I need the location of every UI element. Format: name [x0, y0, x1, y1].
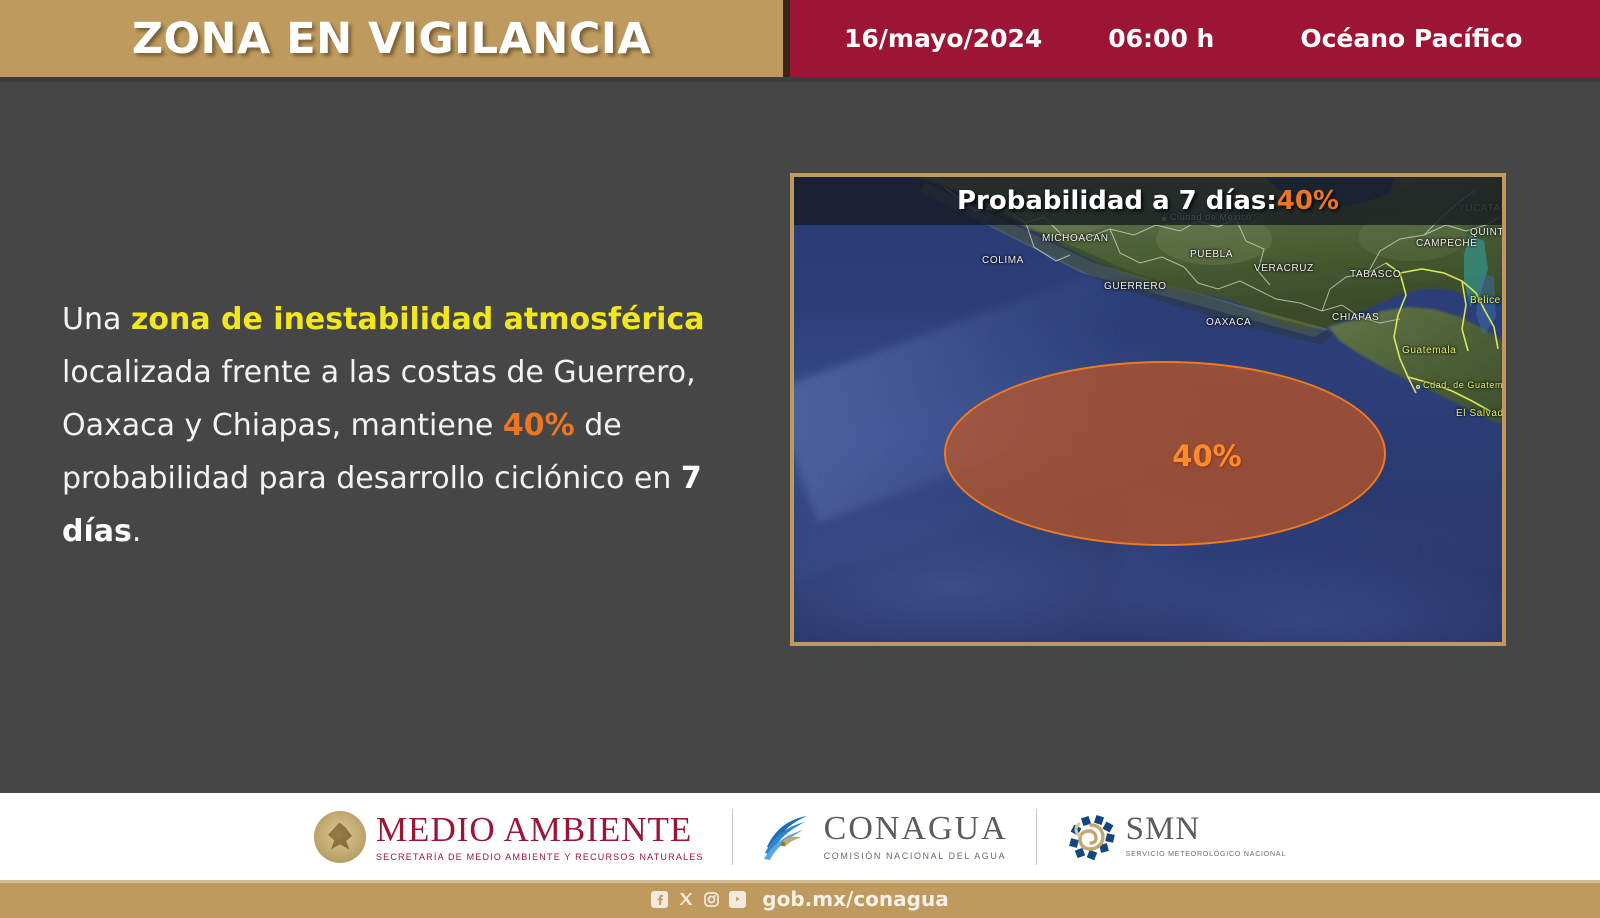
- logo-separator-1: [732, 809, 733, 865]
- smn-spiral-icon: [1065, 812, 1117, 862]
- map-label-cdad-de-guatemala: Cdad. de Guatemala: [1423, 380, 1502, 390]
- logo-row: MEDIO AMBIENTE SECRETARÍA DE MEDIO AMBIE…: [314, 809, 1286, 865]
- smn-subtitle: SERVICIO METEOROLÓGICO NACIONAL: [1126, 850, 1286, 859]
- facebook-icon[interactable]: [651, 891, 668, 908]
- map-banner-text: Probabilidad a 7 días:40%: [957, 186, 1339, 216]
- map-canvas: COLIMA MICHOACAN JALISCO Ciudad de Méxic…: [794, 177, 1502, 642]
- weather-bulletin-slide: ZONA EN VIGILANCIA 16/mayo/2024 06:00 h …: [0, 0, 1600, 918]
- header-divider: [783, 0, 790, 77]
- logo-medio-ambiente: MEDIO AMBIENTE SECRETARÍA DE MEDIO AMBIE…: [314, 811, 704, 863]
- map-banner-label: Probabilidad a 7 días:: [957, 186, 1277, 216]
- probability-zone-label: 40%: [1172, 439, 1241, 473]
- bulletin-date: 16/mayo/2024: [844, 24, 1042, 53]
- youtube-icon[interactable]: [729, 891, 746, 908]
- header-meta-bar: 16/mayo/2024 06:00 h Océano Pacífico: [790, 0, 1600, 77]
- page-title: ZONA EN VIGILANCIA: [132, 14, 651, 64]
- map-label-tabasco: TABASCO: [1350, 269, 1401, 280]
- text-segment-period: .: [132, 514, 142, 549]
- highlight-phenomenon: zona de inestabilidad atmosférica: [131, 302, 705, 337]
- logo-conagua: CONAGUA COMISIÓN NACIONAL DEL AGUA: [761, 812, 1008, 861]
- map-label-el-salvador: El Salvador: [1456, 408, 1502, 419]
- logo-smn: SMN SERVICIO METEOROLÓGICO NACIONAL: [1065, 812, 1286, 862]
- social-bar: gob.mx/conagua: [0, 880, 1600, 918]
- header-underline: [0, 77, 1600, 82]
- map-banner: Probabilidad a 7 días:40%: [794, 177, 1502, 225]
- probability-zone-polygon[interactable]: 40%: [944, 361, 1386, 546]
- map-label-guerrero: GUERRERO: [1104, 281, 1167, 292]
- smn-title: SMN: [1126, 813, 1286, 846]
- map-label-michoacan: MICHOACAN: [1042, 233, 1109, 244]
- text-segment-intro: Una: [62, 302, 131, 337]
- mexican-eagle-seal-icon: [314, 811, 366, 863]
- header-title-bar: ZONA EN VIGILANCIA: [0, 0, 783, 77]
- x-twitter-icon[interactable]: [677, 891, 694, 908]
- map-label-guatemala: Guatemala: [1402, 345, 1456, 356]
- footer-logo-bar: MEDIO AMBIENTE SECRETARÍA DE MEDIO AMBIE…: [0, 793, 1600, 880]
- header: ZONA EN VIGILANCIA 16/mayo/2024 06:00 h …: [0, 0, 1600, 77]
- conagua-subtitle: COMISIÓN NACIONAL DEL AGUA: [824, 851, 1008, 861]
- bulletin-description: Una zona de inestabilidad atmosférica lo…: [62, 293, 738, 558]
- smn-text: SMN SERVICIO METEOROLÓGICO NACIONAL: [1126, 813, 1286, 859]
- medio-ambiente-subtitle: SECRETARÍA DE MEDIO AMBIENTE Y RECURSOS …: [376, 852, 704, 862]
- instagram-icon[interactable]: [703, 891, 720, 908]
- probability-map[interactable]: COLIMA MICHOACAN JALISCO Ciudad de Méxic…: [790, 173, 1506, 646]
- map-label-colima: COLIMA: [982, 255, 1024, 266]
- bulletin-time: 06:00 h: [1108, 24, 1214, 53]
- conagua-title: CONAGUA: [824, 812, 1008, 846]
- gobmx-url[interactable]: gob.mx/conagua: [762, 887, 948, 911]
- map-label-veracruz: VERACRUZ: [1254, 263, 1314, 274]
- map-label-quintana-roo: QUINTANA ROO: [1470, 227, 1502, 238]
- highlight-probability: 40%: [503, 408, 575, 443]
- map-label-oaxaca: OAXACA: [1206, 317, 1251, 328]
- guatemala-city-dot: [1416, 385, 1420, 389]
- map-label-chiapas: CHIAPAS: [1332, 312, 1379, 323]
- medio-ambiente-text: MEDIO AMBIENTE SECRETARÍA DE MEDIO AMBIE…: [376, 812, 704, 862]
- map-label-puebla: PUEBLA: [1190, 249, 1233, 260]
- bulletin-basin: Océano Pacífico: [1300, 24, 1522, 53]
- map-label-belice: Belice: [1470, 295, 1501, 306]
- medio-ambiente-title: MEDIO AMBIENTE: [376, 812, 704, 847]
- logo-separator-2: [1036, 809, 1037, 865]
- map-label-campeche: CAMPECHE: [1416, 238, 1477, 249]
- conagua-wave-eagle-icon: [761, 813, 815, 861]
- conagua-text: CONAGUA COMISIÓN NACIONAL DEL AGUA: [824, 812, 1008, 861]
- map-banner-value: 40%: [1277, 186, 1339, 216]
